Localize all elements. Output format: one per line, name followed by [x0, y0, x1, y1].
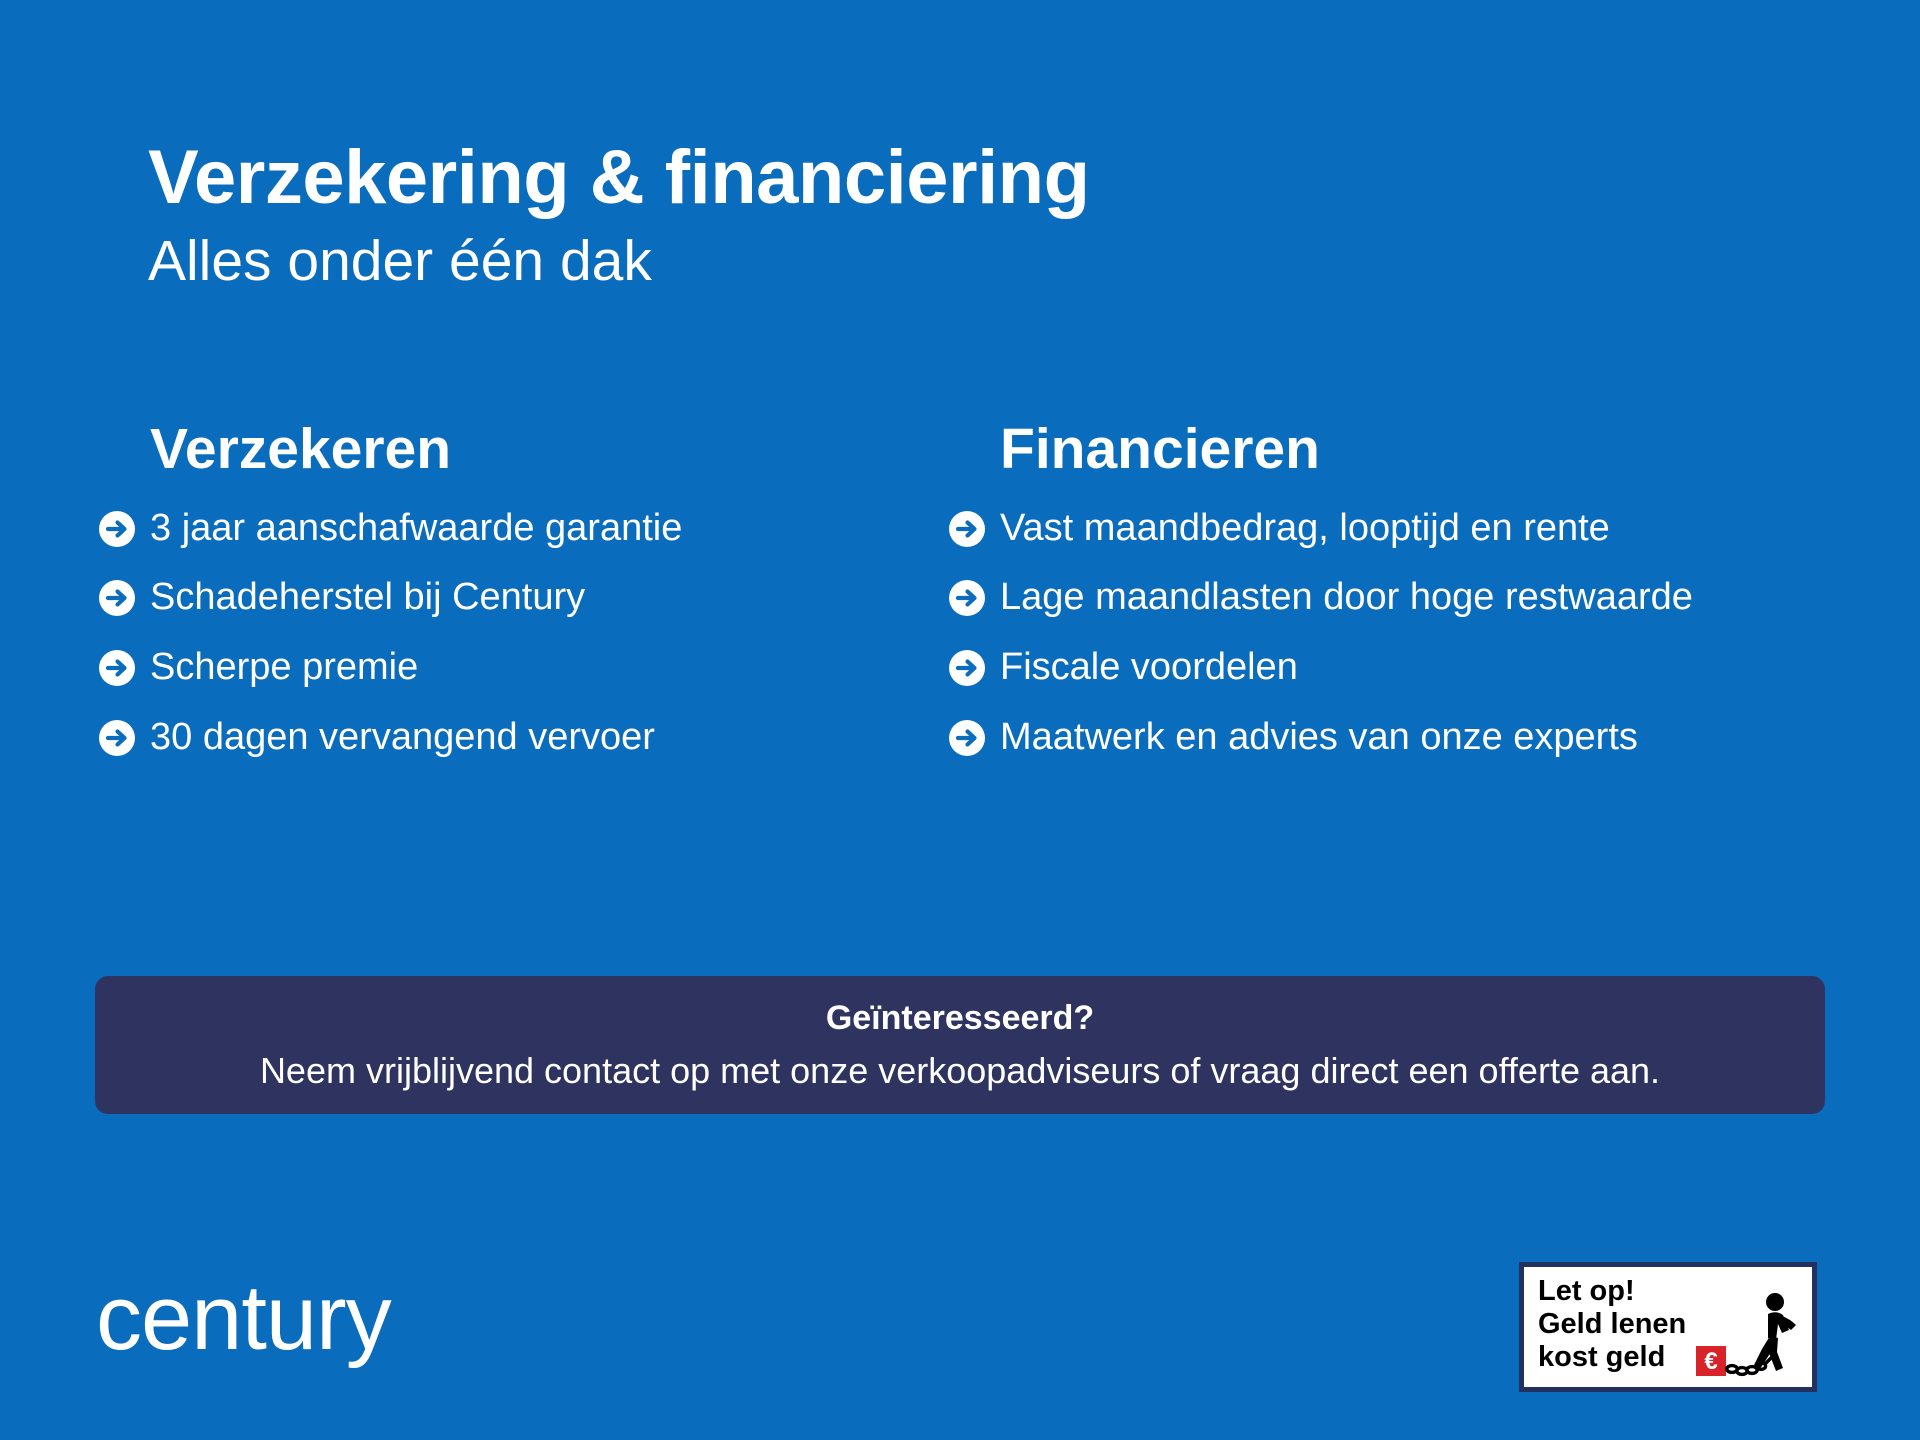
cta-banner[interactable]: Geïnteresseerd? Neem vrijblijvend contac…	[95, 976, 1825, 1114]
arrow-right-circle-icon	[948, 579, 986, 617]
list-item: Scherpe premie	[98, 646, 970, 690]
list-item: 3 jaar aanschafwaarde garantie	[98, 507, 970, 551]
list-item-label: Scherpe premie	[150, 646, 418, 690]
list-item-label: 30 dagen vervangend vervoer	[150, 716, 655, 760]
column-heading-financieren: Financieren	[1000, 418, 1880, 481]
list-item: Fiscale voordelen	[948, 646, 1880, 690]
arrow-right-circle-icon	[98, 719, 136, 757]
column-financieren: Financieren Vast maandbedrag, looptijd e…	[1000, 418, 1880, 785]
list-item-label: Schadeherstel bij Century	[150, 576, 585, 620]
cta-body: Neem vrijblijvend contact op met onze ve…	[260, 1049, 1660, 1092]
warning-badge: Let op! Geld lenen kost geld €	[1519, 1262, 1817, 1392]
list-item-label: Vast maandbedrag, looptijd en rente	[1000, 507, 1610, 551]
arrow-right-circle-icon	[98, 649, 136, 687]
list-item-label: Maatwerk en advies van onze experts	[1000, 716, 1638, 760]
cta-heading: Geïnteresseerd?	[826, 998, 1094, 1039]
list-item-label: Lage maandlasten door hoge restwaarde	[1000, 576, 1693, 620]
svg-text:€: €	[1704, 1348, 1717, 1375]
feature-columns: Verzekeren 3 jaar aanschafwaarde garanti…	[0, 418, 1920, 788]
list-item: Vast maandbedrag, looptijd en rente	[948, 507, 1880, 551]
bullet-list-financieren: Vast maandbedrag, looptijd en rente Lage…	[1000, 507, 1880, 760]
list-item-label: Fiscale voordelen	[1000, 646, 1298, 690]
list-item: Maatwerk en advies van onze experts	[948, 716, 1880, 760]
walking-figure-with-ball-and-chain-icon: €	[1696, 1289, 1804, 1381]
warning-badge-inner: Let op! Geld lenen kost geld €	[1524, 1267, 1812, 1387]
arrow-right-circle-icon	[948, 719, 986, 757]
arrow-right-circle-icon	[948, 649, 986, 687]
arrow-right-circle-icon	[948, 510, 986, 548]
list-item: 30 dagen vervangend vervoer	[98, 716, 970, 760]
header: Verzekering & financiering Alles onder é…	[148, 138, 1788, 295]
list-item: Schadeherstel bij Century	[98, 576, 970, 620]
arrow-right-circle-icon	[98, 510, 136, 548]
list-item-label: 3 jaar aanschafwaarde garantie	[150, 507, 682, 551]
column-heading-verzekeren: Verzekeren	[150, 418, 970, 481]
slide-canvas: Verzekering & financiering Alles onder é…	[0, 0, 1920, 1440]
page-subtitle: Alles onder één dak	[148, 227, 1788, 295]
column-verzekeren: Verzekeren 3 jaar aanschafwaarde garanti…	[150, 418, 970, 785]
bullet-list-verzekeren: 3 jaar aanschafwaarde garantie Schadeher…	[150, 507, 970, 760]
century-logo: century	[96, 1272, 391, 1364]
list-item: Lage maandlasten door hoge restwaarde	[948, 576, 1880, 620]
arrow-right-circle-icon	[98, 579, 136, 617]
page-title: Verzekering & financiering	[148, 138, 1788, 217]
